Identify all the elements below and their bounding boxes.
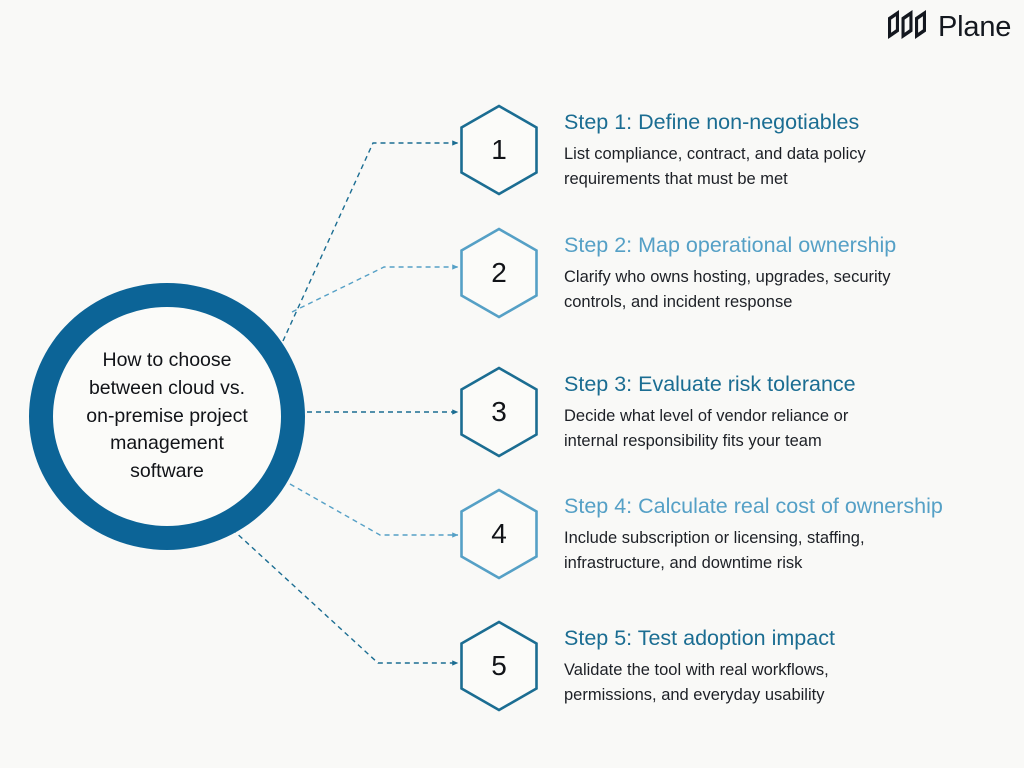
brand-logo: Plane xyxy=(888,10,1011,44)
step-title-2: Step 2: Map operational ownership xyxy=(564,233,896,259)
step-text-5: Step 5: Test adoption impact Validate th… xyxy=(564,620,835,709)
step-description-2: Clarify who owns hosting, upgrades, secu… xyxy=(564,265,896,316)
step-text-1: Step 1: Define non-negotiables List comp… xyxy=(564,104,866,193)
step-title-1: Step 1: Define non-negotiables xyxy=(564,110,866,136)
step-item-2: 2 Step 2: Map operational ownership Clar… xyxy=(459,227,896,319)
step-title-5: Step 5: Test adoption impact xyxy=(564,626,835,652)
step-item-3: 3 Step 3: Evaluate risk tolerance Decide… xyxy=(459,366,856,458)
connector-step-2 xyxy=(292,267,458,312)
step-number-4: 4 xyxy=(459,488,539,580)
brand-name: Plane xyxy=(938,13,1011,42)
step-hexagon-3: 3 xyxy=(459,366,539,458)
step-description-5: Validate the tool with real workflows, p… xyxy=(564,658,835,709)
step-description-3: Decide what level of vendor reliance or … xyxy=(564,404,856,455)
step-item-5: 5 Step 5: Test adoption impact Validate … xyxy=(459,620,835,712)
step-number-1: 1 xyxy=(459,104,539,196)
step-hexagon-2: 2 xyxy=(459,227,539,319)
step-text-4: Step 4: Calculate real cost of ownership… xyxy=(564,488,943,577)
connector-step-1 xyxy=(283,143,458,341)
step-number-2: 2 xyxy=(459,227,539,319)
central-topic-text: How to choose between cloud vs. on-premi… xyxy=(69,347,265,485)
step-description-4: Include subscription or licensing, staff… xyxy=(564,526,943,577)
step-number-5: 5 xyxy=(459,620,539,712)
step-hexagon-4: 4 xyxy=(459,488,539,580)
central-topic-circle: How to choose between cloud vs. on-premi… xyxy=(29,283,305,550)
step-number-3: 3 xyxy=(459,366,539,458)
step-text-2: Step 2: Map operational ownership Clarif… xyxy=(564,227,896,316)
step-item-1: 1 Step 1: Define non-negotiables List co… xyxy=(459,104,866,196)
step-item-4: 4 Step 4: Calculate real cost of ownersh… xyxy=(459,488,943,580)
infographic-canvas: Plane How to choose between cloud vs. on… xyxy=(0,0,1024,768)
connector-step-5 xyxy=(232,529,458,663)
step-title-4: Step 4: Calculate real cost of ownership xyxy=(564,494,943,520)
connector-step-4 xyxy=(290,484,458,535)
step-text-3: Step 3: Evaluate risk tolerance Decide w… xyxy=(564,366,856,455)
step-hexagon-1: 1 xyxy=(459,104,539,196)
plane-logo-icon xyxy=(888,10,928,44)
step-description-1: List compliance, contract, and data poli… xyxy=(564,142,866,193)
step-title-3: Step 3: Evaluate risk tolerance xyxy=(564,372,856,398)
step-hexagon-5: 5 xyxy=(459,620,539,712)
